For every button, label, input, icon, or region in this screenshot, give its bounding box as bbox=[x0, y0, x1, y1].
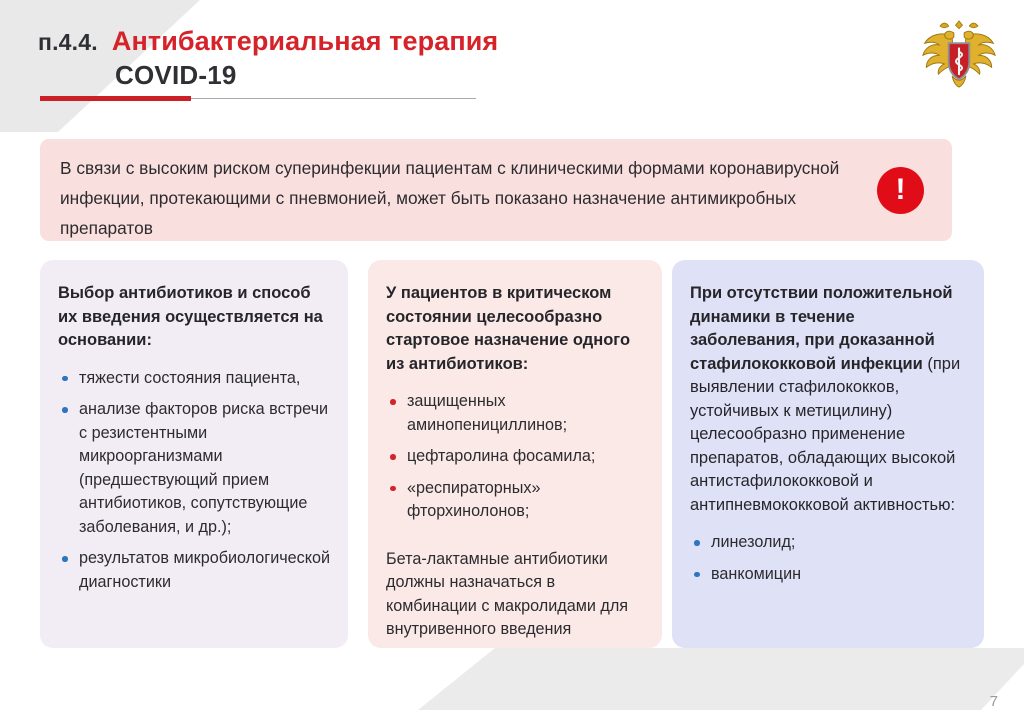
page-title: Антибактериальная терапия bbox=[112, 26, 498, 58]
page-number: 7 bbox=[990, 693, 998, 710]
list-item: защищенных аминопенициллинов; bbox=[386, 390, 646, 437]
exclamation-icon: ! bbox=[877, 167, 924, 214]
card-heading: Выбор антибиотиков и способ их введения … bbox=[58, 282, 332, 353]
card-heading: У пациентов в критическом состоянии целе… bbox=[386, 282, 646, 376]
exclamation-glyph: ! bbox=[896, 175, 906, 205]
card-no-positive-dynamics: При отсутствии положительной динамики в … bbox=[672, 260, 984, 648]
page-subtitle: COVID-19 bbox=[115, 60, 738, 91]
card-bullet-list: тяжести состояния пациента, анализе факт… bbox=[58, 367, 332, 595]
card-bullet-list: линезолид; ванкомицин bbox=[690, 531, 968, 586]
title-row: п.4.4. Антибактериальная терапия bbox=[38, 26, 738, 58]
list-item: тяжести состояния пациента, bbox=[58, 367, 332, 391]
alert-banner: В связи с высоким риском суперинфекции п… bbox=[40, 139, 952, 241]
title-underline-grey bbox=[191, 98, 476, 99]
list-item: «респираторных» фторхинолонов; bbox=[386, 477, 646, 524]
slide-header: п.4.4. Антибактериальная терапия COVID-1… bbox=[38, 26, 738, 91]
card-bullet-list: защищенных аминопенициллинов; цефтаролин… bbox=[386, 390, 646, 524]
list-item: цефтаролина фосамила; bbox=[386, 445, 646, 469]
title-underline-red bbox=[40, 96, 191, 101]
alert-banner-text: В связи с высоким риском суперинфекции п… bbox=[60, 153, 860, 243]
list-item: линезолид; bbox=[690, 531, 968, 555]
cards-container: Выбор антибиотиков и способ их введения … bbox=[40, 260, 984, 648]
card-heading-bold: При отсутствии положительной динамики в … bbox=[690, 284, 953, 373]
card-heading: При отсутствии положительной динамики в … bbox=[690, 282, 968, 517]
title-underline bbox=[40, 96, 476, 101]
list-item: результатов микробиологической диагности… bbox=[58, 547, 332, 594]
slide: п.4.4. Антибактериальная терапия COVID-1… bbox=[0, 0, 1024, 724]
section-number: п.4.4. bbox=[38, 29, 98, 56]
card-antibiotic-choice: Выбор антибиотиков и способ их введения … bbox=[40, 260, 348, 648]
spacer bbox=[386, 532, 646, 548]
decorative-band-bottom bbox=[418, 648, 1024, 710]
card-footer-text: Бета-лактамные антибиотики должны назнач… bbox=[386, 548, 646, 642]
card-critical-patients: У пациентов в критическом состоянии целе… bbox=[368, 260, 662, 648]
card-heading-light: (при выявлении стафилококков, устойчивых… bbox=[690, 355, 960, 514]
list-item: ванкомицин bbox=[690, 563, 968, 587]
russian-ministry-of-health-emblem-icon bbox=[916, 14, 1002, 100]
list-item: анализе факторов риска встречи с резисте… bbox=[58, 398, 332, 539]
